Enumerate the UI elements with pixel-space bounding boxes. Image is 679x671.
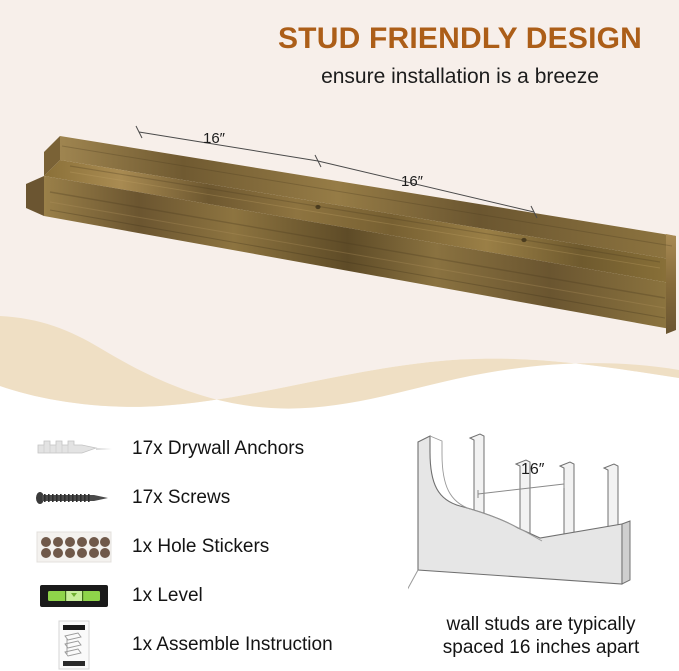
shelf-illustration <box>0 108 679 358</box>
caption-line-2: spaced 16 inches apart <box>408 636 674 659</box>
wall-stud-diagram <box>408 424 674 614</box>
stud-diagram-caption: wall studs are typically spaced 16 inche… <box>408 613 674 659</box>
list-item-label: 17x Screws <box>124 487 230 509</box>
hole-stickers-icon <box>24 524 124 570</box>
list-item: 1x Hole Stickers <box>24 522 394 571</box>
page-subtitle: ensure installation is a breeze <box>248 65 672 89</box>
list-item-label: 1x Level <box>124 585 203 607</box>
instruction-manual-icon <box>24 622 124 668</box>
product-infographic: STUD FRIENDLY DESIGN ensure installation… <box>0 0 679 671</box>
shelf-dimension-label-left: 16″ <box>203 130 225 147</box>
stud-spacing-label: 16″ <box>521 461 544 479</box>
screw-icon <box>24 475 124 521</box>
list-item-label: 17x Drywall Anchors <box>124 438 304 460</box>
list-item: 17x Screws <box>24 473 394 522</box>
page-title: STUD FRIENDLY DESIGN <box>248 22 672 56</box>
list-item: 17x Drywall Anchors <box>24 424 394 473</box>
drywall-anchor-icon <box>24 426 124 472</box>
list-item: 1x Level <box>24 571 394 620</box>
shelf-right-end-grain <box>666 234 676 334</box>
shelf-dimension-label-right: 16″ <box>401 173 423 190</box>
floor-line <box>408 570 418 592</box>
bubble-level-icon <box>24 573 124 619</box>
shelf-mounting-hole <box>521 238 526 242</box>
shelf-mounting-hole <box>315 205 320 209</box>
shelf-left-end-cap <box>26 176 44 216</box>
included-accessories-list: 17x Drywall Anchors <box>24 424 394 669</box>
heading-block: STUD FRIENDLY DESIGN ensure installation… <box>248 22 672 89</box>
list-item-label: 1x Hole Stickers <box>124 536 269 558</box>
list-item: 1x Assemble Instruction <box>24 620 394 669</box>
list-item-label: 1x Assemble Instruction <box>124 634 333 656</box>
caption-line-1: wall studs are typically <box>408 613 674 636</box>
drywall-edge-thickness <box>622 521 630 584</box>
